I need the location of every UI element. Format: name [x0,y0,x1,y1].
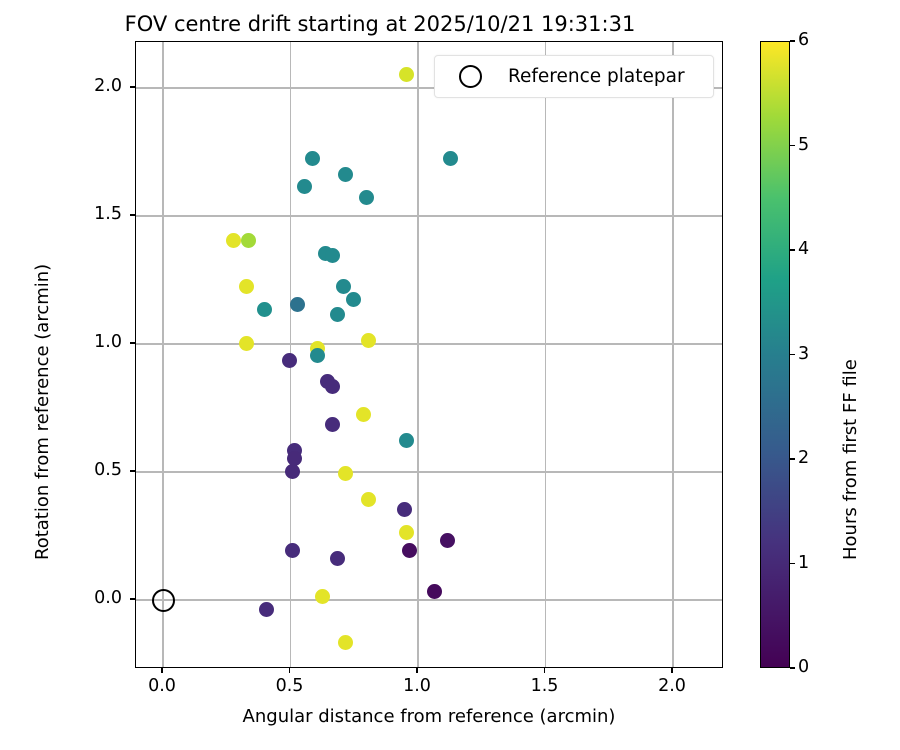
x-axis-label: Angular distance from reference (arcmin) [0,706,858,727]
colorbar [760,41,790,668]
colorbar-tick [790,354,795,355]
x-tick-label: 0.0 [132,676,192,696]
x-tick [161,668,162,673]
reference-platepar-marker-icon [459,65,482,88]
colorbar-tick-label: 5 [798,135,809,155]
data-point [359,190,374,205]
data-point [361,492,376,507]
x-tick [544,668,545,673]
y-tick-label: 1.0 [74,332,122,352]
data-point [440,533,455,548]
data-point [397,502,412,517]
colorbar-tick [790,563,795,564]
figure: FOV centre drift starting at 2025/10/21 … [0,0,900,750]
data-point [338,167,353,182]
colorbar-tick-label: 0 [798,657,809,677]
data-point [259,602,274,617]
x-tick-label: 2.0 [642,676,702,696]
data-point [239,336,254,351]
data-point [443,151,458,166]
y-tick-label: 0.5 [74,460,122,480]
plot-area [135,41,723,668]
data-point [285,543,300,558]
legend-label-reference-platepar: Reference platepar [508,66,685,87]
data-point [290,297,305,312]
gridline-vertical [545,42,546,667]
data-point [361,333,376,348]
y-tick-label: 2.0 [74,76,122,96]
x-tick [289,668,290,673]
gridline-horizontal [136,471,722,472]
y-tick [130,470,135,471]
y-tick [130,214,135,215]
x-tick-label: 1.0 [387,676,447,696]
colorbar-tick [790,249,795,250]
data-point [239,279,254,294]
data-point [285,464,300,479]
data-point [315,589,330,604]
y-axis-label: Rotation from reference (arcmin) [32,264,53,560]
y-tick-label: 1.5 [74,204,122,224]
y-tick [130,598,135,599]
x-tick [416,668,417,673]
data-point [399,433,414,448]
x-tick-label: 1.5 [515,676,575,696]
data-point [330,551,345,566]
colorbar-tick [790,458,795,459]
colorbar-tick-label: 1 [798,553,809,573]
y-tick [130,86,135,87]
colorbar-tick-label: 3 [798,344,809,364]
colorbar-label: Hours from first FF file [840,359,861,560]
legend: Reference platepar [434,55,714,98]
data-point [399,67,414,82]
data-point [346,292,361,307]
colorbar-tick [790,145,795,146]
gridline-vertical [162,42,163,667]
colorbar-tick [790,667,795,668]
data-point [226,233,241,248]
y-tick [130,342,135,343]
reference-platepar-point [152,589,175,612]
colorbar-tick-label: 6 [798,30,809,50]
gridline-vertical [417,42,418,667]
y-tick-label: 0.0 [74,588,122,608]
colorbar-tick-label: 2 [798,448,809,468]
gridline-horizontal [136,343,722,344]
gridline-vertical [672,42,673,667]
data-point [336,279,351,294]
x-tick [671,668,672,673]
gridline-horizontal [136,215,722,216]
data-point [402,543,417,558]
colorbar-tick-label: 4 [798,239,809,259]
chart-title: FOV centre drift starting at 2025/10/21 … [0,12,760,36]
data-point [257,302,272,317]
gridline-horizontal [136,599,722,600]
x-tick-label: 0.5 [260,676,320,696]
colorbar-tick [790,40,795,41]
